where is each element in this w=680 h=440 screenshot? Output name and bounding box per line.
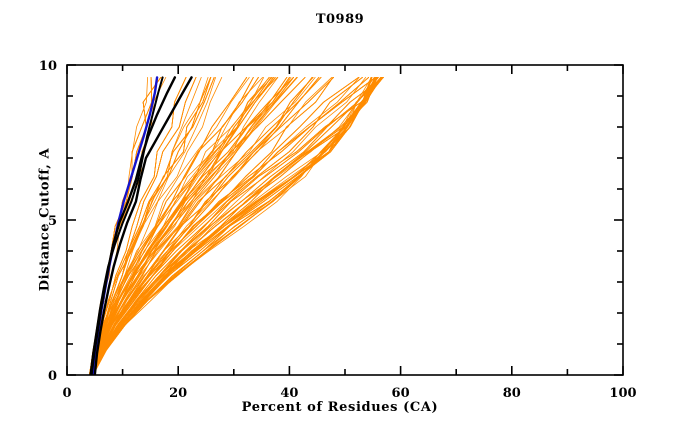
ensemble-curve — [93, 77, 371, 375]
ensemble-curve — [93, 77, 372, 375]
ensemble-curve — [92, 77, 381, 375]
ensemble-curve — [93, 77, 372, 375]
ensemble-curve — [93, 77, 372, 375]
ensemble-curve — [93, 77, 382, 375]
ensemble-curve — [93, 77, 382, 375]
ensemble-curve — [92, 77, 381, 375]
ensemble-curve — [92, 77, 381, 375]
x-tick-label: 20 — [169, 386, 187, 401]
ensemble-curve — [92, 77, 381, 375]
ensemble-curve — [92, 77, 332, 375]
ensemble-curve — [93, 77, 371, 375]
ensemble-curve — [93, 77, 371, 375]
ensemble-curve — [92, 77, 381, 375]
y-tick-label: 0 — [48, 369, 57, 384]
ensemble-curve — [92, 77, 381, 375]
x-tick-label: 100 — [609, 386, 636, 401]
x-tick-label: 80 — [503, 386, 521, 401]
ensemble-curve — [92, 77, 381, 375]
x-axis-tick-labels: 020406080100 — [62, 386, 636, 401]
x-tick-label: 0 — [62, 386, 71, 401]
ensemble-curve — [93, 77, 380, 375]
ensemble-curves — [89, 77, 383, 375]
ensemble-curve — [93, 77, 372, 375]
ensemble-curve — [92, 77, 381, 375]
chart-figure: T0989 020406080100 0510 Percent of Resid… — [0, 0, 680, 440]
ensemble-curve — [92, 77, 381, 375]
ensemble-curve — [93, 77, 371, 375]
ensemble-curve — [93, 77, 372, 375]
x-axis-label: Percent of Residues (CA) — [0, 400, 680, 415]
plot-canvas: 020406080100 0510 — [0, 0, 680, 440]
ensemble-curve — [92, 77, 381, 375]
y-axis-label: Distance Cutoff, A — [38, 90, 53, 350]
ensemble-curve — [93, 77, 382, 375]
ensemble-curve — [92, 77, 381, 375]
y-tick-label: 10 — [39, 59, 57, 74]
ensemble-curve — [93, 77, 382, 375]
x-tick-label: 60 — [392, 386, 410, 401]
x-tick-label: 40 — [280, 386, 298, 401]
ensemble-curve — [92, 77, 381, 375]
